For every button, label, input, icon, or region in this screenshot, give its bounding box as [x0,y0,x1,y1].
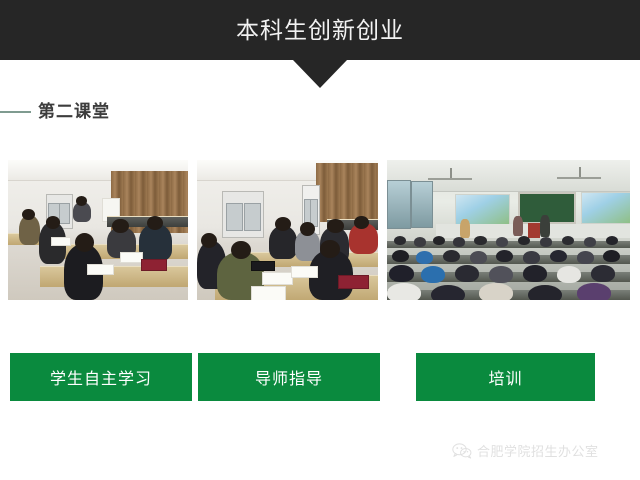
photo2-paper-3 [251,286,286,300]
photo3-audience-head [389,265,413,282]
photo3-audience-head [496,237,508,247]
photo2-head-1 [201,233,217,248]
photo3-audience-head [540,237,552,247]
slide-header-bar: 本科生创新创业 [0,0,640,60]
photo1-paper-1 [87,264,114,276]
photo3-podium [528,223,540,238]
photo3-audience-head [392,250,409,263]
photo-students-self-study [8,160,188,300]
photo3-fan-blade-2 [557,177,601,179]
photo1-paper-2 [120,252,144,262]
photo2-red-folder [338,275,369,290]
photo3-audience-head [550,250,567,263]
photo3-audience-head [557,266,581,283]
photo2-cabinet [222,191,264,238]
button-training[interactable]: 培训 [416,353,595,401]
triangle-down-icon [293,60,347,88]
photo2-pencil-case [251,261,275,271]
button-mentor-guidance[interactable]: 导师指导 [198,353,380,401]
photo3-assistant-2 [460,219,470,239]
photo1-head-2 [46,216,60,229]
photo2-paper-1 [262,272,293,285]
photo3-audience-head [489,266,513,283]
section-label: 第二课堂 [38,103,110,120]
photo3-audience-head [591,265,615,282]
photo3-audience-head [562,236,574,246]
photo2-head-4 [300,222,314,236]
photo3-audience-head [496,250,513,263]
photo3-audience-head [577,283,611,300]
photo1-paper-3 [51,237,71,246]
photo3-audience-head [387,283,421,300]
photo3-audience-head [523,265,547,282]
photo3-audience-head [455,265,479,282]
photo3-audience-head [416,251,433,264]
photo3-projection-screen-right [581,192,630,223]
photo3-audience-head [443,250,460,263]
photo3-audience-head [453,237,465,247]
watermark: 合肥学院招生办公室 [452,443,599,459]
photo2-head-6 [354,216,368,229]
photo-group-study [197,160,378,300]
photo3-lecturer [540,215,550,237]
photo-lecture-hall [387,160,630,300]
photo-gallery [8,160,630,300]
photo3-fan-blade-1 [428,178,472,180]
photo3-audience-head [470,251,487,264]
photo1-red-folder [141,259,166,271]
photo3-window-2 [411,181,432,228]
photo3-audience-head [421,266,445,283]
photo3-assistant-1 [513,216,523,236]
section-heading: 第二课堂 [0,103,110,120]
photo3-audience-head [577,251,594,264]
watermark-text: 合肥学院招生办公室 [477,445,599,458]
category-button-row: 学生自主学习 导师指导 培训 [0,353,640,401]
dash-icon [0,111,31,113]
button-student-self-study[interactable]: 学生自主学习 [10,353,192,401]
photo3-audience-head [528,285,562,300]
photo3-audience-head [523,251,540,264]
photo2-paper-2 [291,266,318,278]
photo2-head-5 [327,219,343,233]
wechat-icon [452,443,472,459]
photo3-audience-head [606,236,618,246]
photo3-audience-head [479,283,513,300]
photo3-audience-head [603,250,620,263]
photo3-fan-rod-1 [450,168,452,178]
photo3-fan-rod-2 [579,167,581,177]
page-title: 本科生创新创业 [236,19,404,42]
photo1-head-5 [147,216,163,230]
photo1-head-4 [112,219,128,233]
photo3-audience-head [584,237,596,247]
photo3-audience-head [431,285,465,300]
photo3-audience-head [474,236,486,246]
photo3-audience-head [414,237,426,247]
photo3-window-1 [387,180,411,230]
photo2-curtain [316,163,378,222]
photo2-head-7 [320,240,340,258]
